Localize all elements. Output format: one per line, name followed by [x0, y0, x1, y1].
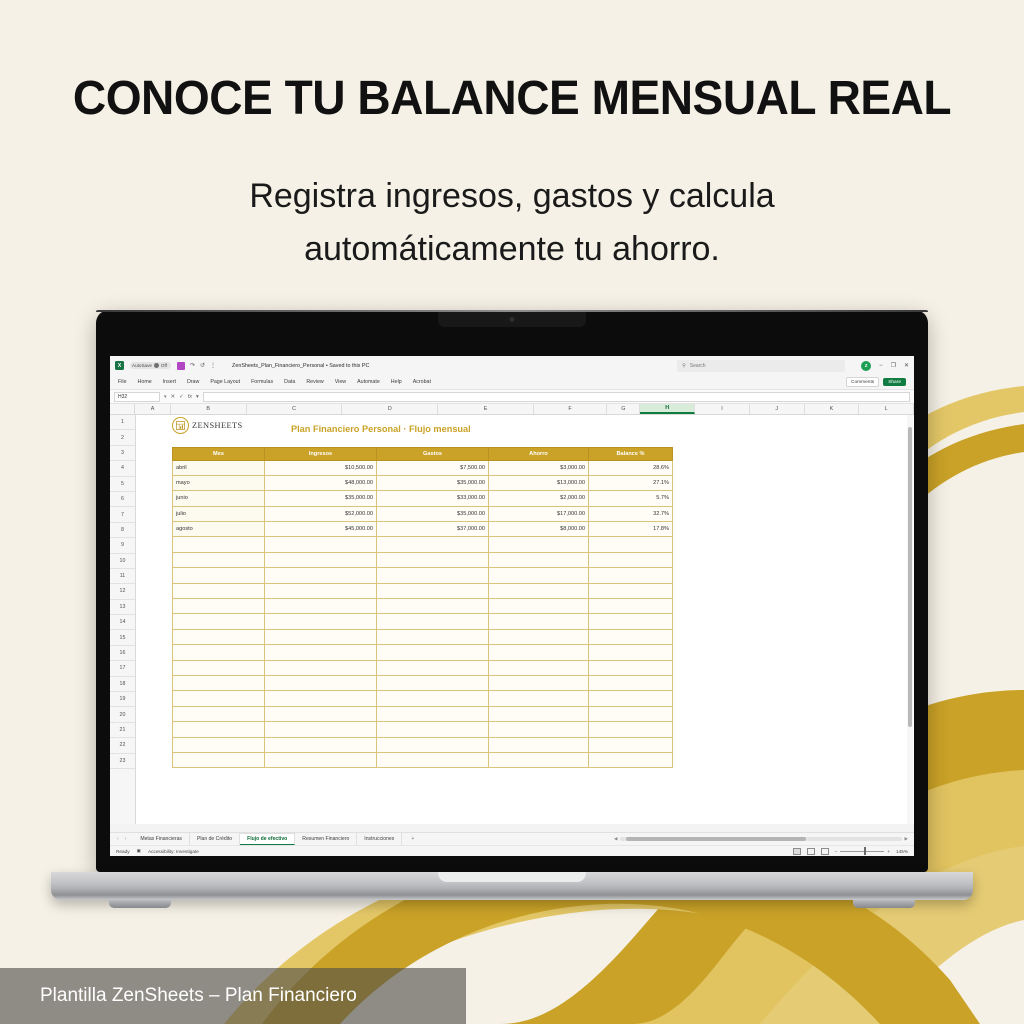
ribbon-tab-page-layout[interactable]: Page Layout [210, 379, 240, 385]
caption-bar: Plantilla ZenSheets – Plan Financiero [0, 968, 466, 1024]
column-header-g[interactable]: G [607, 404, 640, 414]
table-cell-empty[interactable] [265, 752, 377, 767]
quick-access-toolbar: ↷ ↺ ⋮ [177, 362, 216, 370]
ribbon-tab-help[interactable]: Help [391, 379, 402, 385]
zensheets-wordmark: ZENSHEETS [192, 421, 243, 430]
table-cell-empty[interactable] [589, 691, 673, 706]
select-all-corner[interactable] [110, 404, 135, 414]
zoom-out-button[interactable]: − [835, 849, 838, 854]
row-header-6[interactable]: 6 [110, 492, 135, 507]
row-header-1[interactable]: 1 [110, 415, 135, 430]
table-cell-empty[interactable] [265, 552, 377, 567]
table-cell[interactable]: $10,500.00 [265, 460, 377, 475]
zoom-thumb[interactable] [864, 847, 866, 855]
table-cell-empty[interactable] [489, 552, 589, 567]
laptop-mockup: X AutoSave Off ↷ ↺ ⋮ ZenSheets_Plan_Fina… [96, 310, 928, 910]
table-cell-empty[interactable] [173, 599, 265, 614]
table-cell[interactable]: 28.6% [589, 460, 673, 475]
sheet-title: Plan Financiero Personal · Flujo mensual [291, 424, 471, 434]
page-layout-view-icon[interactable] [807, 848, 815, 855]
excel-title-bar: X AutoSave Off ↷ ↺ ⋮ ZenSheets_Plan_Fina… [110, 356, 914, 375]
scroll-left-icon[interactable]: ◀ [614, 836, 617, 842]
table-row-empty[interactable] [173, 552, 673, 567]
zensheets-logo-icon [172, 417, 189, 434]
table-cell-empty[interactable] [589, 537, 673, 552]
ribbon-tab-data[interactable]: Data [284, 379, 295, 385]
ribbon-tab-view[interactable]: View [335, 379, 346, 385]
laptop-base [51, 872, 973, 900]
autosave-state: Off [161, 363, 167, 368]
table-cell-empty[interactable] [173, 752, 265, 767]
formula-expand-chevron-icon[interactable]: ▾ [196, 394, 199, 400]
row-header-19[interactable]: 19 [110, 692, 135, 707]
column-header-c[interactable]: C [247, 404, 343, 414]
table-cell-empty[interactable] [173, 675, 265, 690]
table-cell-empty[interactable] [265, 583, 377, 598]
save-icon[interactable] [177, 362, 185, 370]
column-header-f[interactable]: F [534, 404, 607, 414]
cancel-icon[interactable]: ✕ [171, 394, 176, 400]
more-icon[interactable]: ⋮ [210, 362, 216, 369]
formula-input[interactable] [203, 392, 910, 402]
table-cell-empty[interactable] [265, 537, 377, 552]
table-cell-empty[interactable] [589, 552, 673, 567]
table-cell-empty[interactable] [489, 645, 589, 660]
accessibility-icon[interactable]: ▣ [137, 848, 141, 854]
table-cell[interactable]: $35,000.00 [377, 506, 489, 521]
laptop-lip [438, 872, 586, 882]
table-cell-empty[interactable] [173, 568, 265, 583]
table-cell-empty[interactable] [377, 722, 489, 737]
table-cell-empty[interactable] [173, 660, 265, 675]
row-header-23[interactable]: 23 [110, 754, 135, 769]
table-row-empty[interactable] [173, 722, 673, 737]
table-row[interactable]: agosto$45,000.00$37,000.00$8,000.0017.8% [173, 522, 673, 537]
sheet-tab-plan-de-credito[interactable]: Plan de Crédito [190, 833, 240, 845]
table-cell-empty[interactable] [173, 645, 265, 660]
autosave-toggle[interactable]: AutoSave Off [130, 362, 171, 369]
sheet-tab-flujo-de-efectivo[interactable]: Flujo de efectivo [240, 833, 295, 845]
table-cell-empty[interactable] [589, 629, 673, 644]
restore-button[interactable]: ❐ [891, 362, 896, 369]
row-header-16[interactable]: 16 [110, 646, 135, 661]
ribbon-tab-automate[interactable]: Automate [357, 379, 380, 385]
sheet-nav-arrows[interactable]: ‹ › [110, 833, 133, 845]
normal-view-icon[interactable] [793, 848, 801, 855]
sheet-tab-instrucciones[interactable]: Instrucciones [357, 833, 402, 845]
zoom-level[interactable]: 145% [896, 849, 908, 854]
search-icon: ⚲ [682, 363, 686, 369]
ribbon-tab-draw[interactable]: Draw [187, 379, 199, 385]
table-cell-empty[interactable] [589, 645, 673, 660]
prev-sheet-icon[interactable]: ‹ [117, 836, 119, 842]
table-row-empty[interactable] [173, 583, 673, 598]
table-row[interactable]: julio$52,000.00$35,000.00$17,000.0032.7% [173, 506, 673, 521]
column-header-j[interactable]: J [750, 404, 805, 414]
column-header-a[interactable]: A [135, 404, 170, 414]
row-header-21[interactable]: 21 [110, 723, 135, 738]
table-cell-empty[interactable] [377, 568, 489, 583]
spreadsheet-grid: A B C D E F G H I J K L 123456789 [110, 404, 914, 832]
table-row[interactable]: abril$10,500.00$7,500.00$3,000.0028.6% [173, 460, 673, 475]
zoom-track[interactable] [840, 851, 884, 852]
document-title[interactable]: ZenSheets_Plan_Financiero_Personal • Sav… [232, 363, 369, 369]
headline-text: CONOCE TU BALANCE MENSUAL REAL [20, 74, 1003, 125]
table-cell-empty[interactable] [377, 660, 489, 675]
ribbon-tab-home[interactable]: Home [138, 379, 152, 385]
autosave-label: AutoSave [132, 363, 152, 368]
table-row[interactable]: junio$35,000.00$33,000.00$2,000.005.7% [173, 491, 673, 506]
table-row-empty[interactable] [173, 675, 673, 690]
table-row-empty[interactable] [173, 660, 673, 675]
table-row-empty[interactable] [173, 645, 673, 660]
status-bar: Ready ▣ Accessibility: Investigate − + 1… [110, 845, 914, 856]
table-cell-empty[interactable] [173, 537, 265, 552]
column-header-b[interactable]: B [171, 404, 247, 414]
table-cell-empty[interactable] [589, 660, 673, 675]
table-cell[interactable]: 27.1% [589, 475, 673, 490]
name-box[interactable]: H32 [114, 392, 160, 402]
table-cell-empty[interactable] [265, 645, 377, 660]
table-cell-empty[interactable] [265, 691, 377, 706]
grid-body: 1234567891011121314151617181920212223 [110, 415, 914, 824]
table-row-empty[interactable] [173, 537, 673, 552]
table-cell[interactable]: 32.7% [589, 506, 673, 521]
table-row-empty[interactable] [173, 752, 673, 767]
table-cell-empty[interactable] [489, 706, 589, 721]
table-cell-empty[interactable] [489, 568, 589, 583]
ribbon-tab-acrobat[interactable]: Acrobat [413, 379, 431, 385]
table-cell[interactable]: $52,000.00 [265, 506, 377, 521]
webcam-notch [438, 312, 586, 327]
excel-ribbon-tabs: File Home Insert Draw Page Layout Formul… [110, 375, 914, 390]
table-cell-empty[interactable] [265, 737, 377, 752]
table-cell-empty[interactable] [265, 568, 377, 583]
page-break-view-icon[interactable] [821, 848, 829, 855]
poster-subheadline: Registra ingresos, gastos y calcula auto… [0, 170, 1024, 275]
status-right-controls: − + 145% [793, 848, 909, 855]
row-header-20[interactable]: 20 [110, 707, 135, 722]
table-cell-empty[interactable] [265, 675, 377, 690]
table-cell-empty[interactable] [173, 737, 265, 752]
table-cell-empty[interactable] [489, 629, 589, 644]
table-cell-empty[interactable] [377, 675, 489, 690]
table-cell-empty[interactable] [589, 675, 673, 690]
table-row-empty[interactable] [173, 629, 673, 644]
table-cell-empty[interactable] [589, 752, 673, 767]
table-cell-empty[interactable] [377, 599, 489, 614]
excel-window: X AutoSave Off ↷ ↺ ⋮ ZenSheets_Plan_Fina… [110, 356, 914, 856]
camera-icon [510, 317, 515, 322]
table-cell-empty[interactable] [589, 614, 673, 629]
table-cell-empty[interactable] [265, 614, 377, 629]
poster-canvas: CONOCE TU BALANCE MENSUAL REAL Registra … [0, 0, 1024, 1024]
table-cell-empty[interactable] [265, 722, 377, 737]
ribbon-tab-review[interactable]: Review [306, 379, 323, 385]
search-input[interactable]: ⚲ Search [677, 360, 845, 372]
horizontal-scroll-area [110, 824, 914, 832]
row-header-8[interactable]: 8 [110, 523, 135, 538]
table-row-empty[interactable] [173, 599, 673, 614]
caption-text: Plantilla ZenSheets – Plan Financiero [40, 985, 357, 1007]
table-cell-empty[interactable] [173, 614, 265, 629]
next-sheet-icon[interactable]: › [125, 836, 127, 842]
table-cell-empty[interactable] [377, 737, 489, 752]
table-header-balance: Balance % [589, 447, 673, 460]
share-button[interactable]: Share [883, 378, 906, 386]
table-cell-empty[interactable] [265, 706, 377, 721]
table-cell-empty[interactable] [489, 583, 589, 598]
table-cell[interactable]: $48,000.00 [265, 475, 377, 490]
table-cell[interactable]: $3,000.00 [489, 460, 589, 475]
row-header-10[interactable]: 10 [110, 554, 135, 569]
table-cell-empty[interactable] [489, 737, 589, 752]
row-headers: 1234567891011121314151617181920212223 [110, 415, 136, 824]
row-header-12[interactable]: 12 [110, 584, 135, 599]
table-cell-empty[interactable] [377, 583, 489, 598]
table-cell-empty[interactable] [173, 583, 265, 598]
table-row-empty[interactable] [173, 691, 673, 706]
table-cell-empty[interactable] [265, 629, 377, 644]
laptop-feet [51, 900, 973, 910]
table-row-empty[interactable] [173, 706, 673, 721]
table-cell[interactable]: 17.8% [589, 522, 673, 537]
table-cell-empty[interactable] [589, 599, 673, 614]
row-header-17[interactable]: 17 [110, 661, 135, 676]
table-cell[interactable]: $45,000.00 [265, 522, 377, 537]
table-cell-empty[interactable] [589, 722, 673, 737]
table-header-mes: Mes [173, 447, 265, 460]
table-header-gastos: Gastos [377, 447, 489, 460]
minimize-button[interactable]: − [879, 363, 883, 369]
table-cell-empty[interactable] [377, 645, 489, 660]
fx-icon[interactable]: fx [188, 394, 192, 400]
table-cell-empty[interactable] [173, 552, 265, 567]
horizontal-scroll-thumb[interactable] [626, 837, 806, 841]
table-cell-empty[interactable] [589, 737, 673, 752]
subhead-line-2: automáticamente tu ahorro. [0, 223, 1024, 276]
table-header-ahorro: Ahorro [489, 447, 589, 460]
table-cell[interactable]: $7,500.00 [377, 460, 489, 475]
table-cell[interactable]: junio [173, 491, 265, 506]
table-row-empty[interactable] [173, 568, 673, 583]
table-cell-empty[interactable] [489, 722, 589, 737]
close-button[interactable]: ✕ [904, 362, 909, 369]
table-cell-empty[interactable] [173, 706, 265, 721]
table-cell-empty[interactable] [265, 660, 377, 675]
table-header-ingresos: Ingresos [265, 447, 377, 460]
column-headers: A B C D E F G H I J K L [110, 404, 914, 415]
table-cell[interactable]: $2,000.00 [489, 491, 589, 506]
ribbon-right-actions: Comments Share [846, 377, 906, 387]
column-header-k[interactable]: K [805, 404, 860, 414]
column-header-e[interactable]: E [438, 404, 534, 414]
table-cell-empty[interactable] [489, 675, 589, 690]
table-cell-empty[interactable] [173, 691, 265, 706]
row-header-5[interactable]: 5 [110, 477, 135, 492]
table-cell-empty[interactable] [589, 568, 673, 583]
scroll-right-icon[interactable]: ▶ [905, 836, 908, 842]
row-header-11[interactable]: 11 [110, 569, 135, 584]
ribbon-tab-file[interactable]: File [118, 379, 127, 385]
table-row-empty[interactable] [173, 614, 673, 629]
search-placeholder: Search [690, 363, 706, 369]
sheet-tab-resumen-financiero[interactable]: Resumen Financiero [295, 833, 357, 845]
excel-app-icon: X [115, 361, 124, 370]
table-cell-empty[interactable] [589, 583, 673, 598]
table-cell[interactable]: $33,000.00 [377, 491, 489, 506]
row-header-3[interactable]: 3 [110, 446, 135, 461]
table-cell[interactable]: $37,000.00 [377, 522, 489, 537]
accessibility-status[interactable]: Accessibility: Investigate [148, 849, 199, 854]
table-cell[interactable]: mayo [173, 475, 265, 490]
sheet-tabs-bar: ‹ › Metas Financieras Plan de Crédito Fl… [110, 832, 914, 845]
column-header-d[interactable]: D [342, 404, 438, 414]
name-box-chevron-down-icon[interactable]: ▾ [164, 394, 167, 400]
sheet-tab-metas-financieras[interactable]: Metas Financieras [133, 833, 190, 845]
table-cell-empty[interactable] [377, 691, 489, 706]
table-cell[interactable]: $17,000.00 [489, 506, 589, 521]
status-ready: Ready [116, 849, 130, 854]
table-cell[interactable]: $8,000.00 [489, 522, 589, 537]
poster-headline: CONOCE TU BALANCE MENSUAL REAL [0, 74, 1024, 125]
ribbon-tab-formulas[interactable]: Formulas [251, 379, 273, 385]
table-cell[interactable]: abril [173, 460, 265, 475]
row-header-9[interactable]: 9 [110, 538, 135, 553]
table-row-empty[interactable] [173, 737, 673, 752]
zoom-in-button[interactable]: + [887, 849, 890, 854]
table-row[interactable]: mayo$48,000.00$35,000.00$13,000.0027.1% [173, 475, 673, 490]
table-cell-empty[interactable] [265, 599, 377, 614]
laptop-lid: X AutoSave Off ↷ ↺ ⋮ ZenSheets_Plan_Fina… [96, 310, 928, 872]
table-cell-empty[interactable] [377, 552, 489, 567]
table-cell-empty[interactable] [489, 752, 589, 767]
table-cell[interactable]: $13,000.00 [489, 475, 589, 490]
row-header-15[interactable]: 15 [110, 630, 135, 645]
row-header-2[interactable]: 2 [110, 430, 135, 445]
row-header-7[interactable]: 7 [110, 507, 135, 522]
table-cell-empty[interactable] [377, 752, 489, 767]
table-cell-empty[interactable] [489, 660, 589, 675]
table-cell-empty[interactable] [173, 722, 265, 737]
row-header-13[interactable]: 13 [110, 600, 135, 615]
formula-bar-icons: ✕ ✓ fx ▾ [171, 394, 199, 400]
table-cell[interactable]: julio [173, 506, 265, 521]
grid-cells[interactable]: ZENSHEETS Plan Financiero Personal · Flu… [136, 415, 914, 824]
table-cell-empty[interactable] [489, 537, 589, 552]
table-cell-empty[interactable] [377, 629, 489, 644]
add-sheet-button[interactable]: + [402, 833, 423, 845]
table-cell[interactable]: 5.7% [589, 491, 673, 506]
row-header-18[interactable]: 18 [110, 677, 135, 692]
row-header-14[interactable]: 14 [110, 615, 135, 630]
table-cell-empty[interactable] [377, 537, 489, 552]
zensheets-brand: ZENSHEETS [172, 417, 243, 434]
table-cell-empty[interactable] [489, 599, 589, 614]
zoom-slider[interactable]: − + [835, 849, 891, 854]
table-cell[interactable]: $35,000.00 [265, 491, 377, 506]
horizontal-scrollbar[interactable]: ◀ ▶ [614, 833, 914, 845]
table-cell-empty[interactable] [489, 614, 589, 629]
table-cell[interactable]: $35,000.00 [377, 475, 489, 490]
confirm-icon[interactable]: ✓ [179, 394, 184, 400]
column-header-i[interactable]: I [695, 404, 750, 414]
redo-icon[interactable]: ↺ [200, 362, 205, 369]
table-cell-empty[interactable] [377, 706, 489, 721]
vertical-scrollbar[interactable] [907, 415, 913, 824]
financial-table: MesIngresosGastosAhorroBalance %abril$10… [172, 447, 673, 769]
column-header-l[interactable]: L [859, 404, 914, 414]
table-cell-empty[interactable] [377, 614, 489, 629]
subhead-line-1: Registra ingresos, gastos y calcula [0, 170, 1024, 223]
table-cell-empty[interactable] [589, 706, 673, 721]
autosave-knob-icon [154, 363, 159, 368]
window-controls: Z − ❐ ✕ [861, 361, 909, 371]
ribbon-tab-insert[interactable]: Insert [163, 379, 176, 385]
table-cell[interactable]: agosto [173, 522, 265, 537]
vertical-scroll-thumb[interactable] [908, 427, 912, 727]
horizontal-scroll-track[interactable] [620, 837, 901, 841]
table-header-row: MesIngresosGastosAhorroBalance % [173, 447, 673, 460]
row-header-22[interactable]: 22 [110, 738, 135, 753]
avatar[interactable]: Z [861, 361, 871, 371]
table-cell-empty[interactable] [173, 629, 265, 644]
column-header-h[interactable]: H [640, 404, 695, 414]
formula-bar-row: H32 ▾ ✕ ✓ fx ▾ [110, 390, 914, 404]
row-header-4[interactable]: 4 [110, 461, 135, 476]
comments-button[interactable]: Comments [846, 377, 879, 387]
table-cell-empty[interactable] [489, 691, 589, 706]
undo-icon[interactable]: ↷ [190, 362, 195, 369]
